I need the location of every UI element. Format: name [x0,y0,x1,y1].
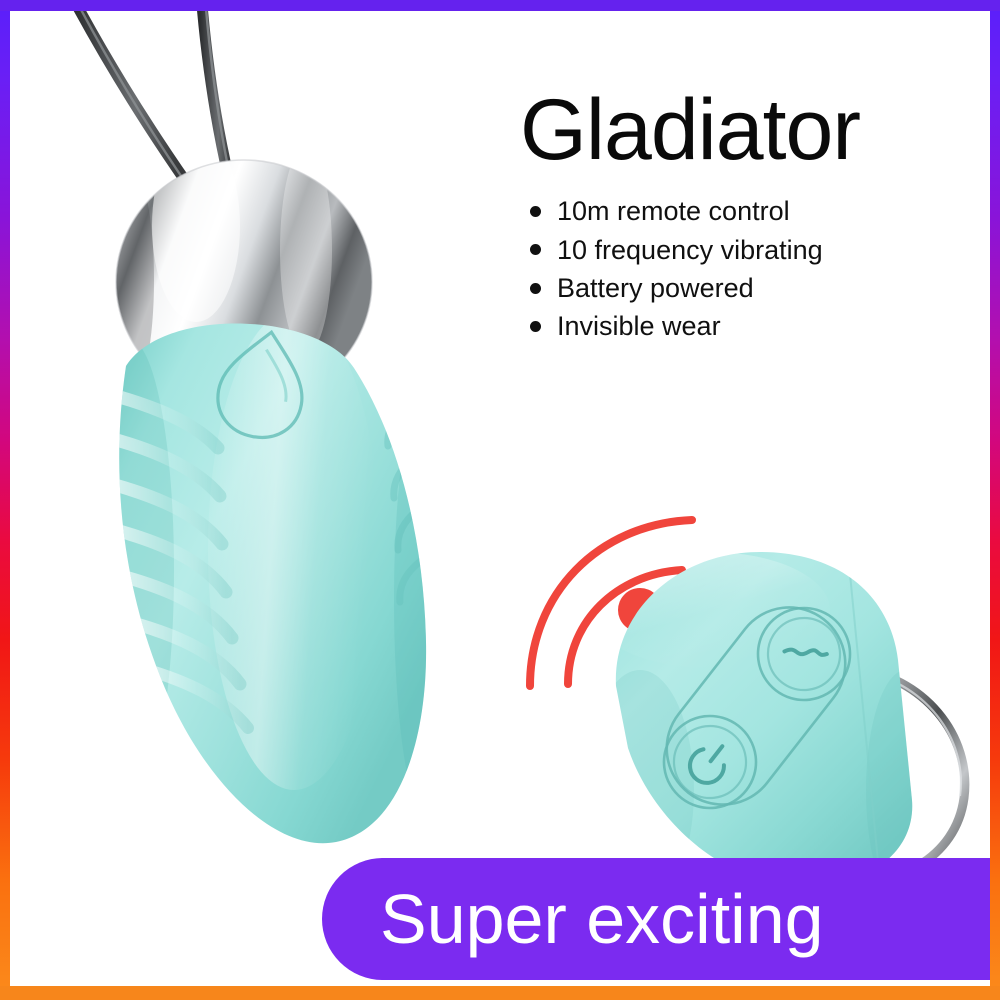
feature-item: Invisible wear [530,307,990,345]
promo-tagline: Super exciting [322,884,824,954]
page-title: Gladiator [520,88,990,172]
frame-bottom-strip [0,986,1000,1000]
feature-label: 10 frequency vibrating [557,231,823,269]
feature-item: 10 frequency vibrating [530,231,990,269]
product-copy-block: Gladiator 10m remote control 10 frequenc… [520,88,990,346]
feature-label: Battery powered [557,269,754,307]
bullet-dot-icon [530,321,541,332]
feature-list: 10m remote control 10 frequency vibratin… [520,192,990,345]
feature-item: 10m remote control [530,192,990,230]
product-silicone-body [86,310,462,843]
product-poster: Gladiator 10m remote control 10 frequenc… [0,0,1000,1000]
promo-banner: Super exciting [322,858,990,980]
bullet-dot-icon [530,244,541,255]
product-image-egg-vibrator [68,130,488,890]
bullet-dot-icon [530,283,541,294]
feature-label: 10m remote control [557,192,790,230]
feature-label: Invisible wear [557,307,721,345]
product-image-remote-control [520,490,990,910]
poster-content-area: Gladiator 10m remote control 10 frequenc… [10,10,990,990]
frame-top-strip [0,0,1000,11]
bullet-dot-icon [530,206,541,217]
feature-item: Battery powered [530,269,990,307]
